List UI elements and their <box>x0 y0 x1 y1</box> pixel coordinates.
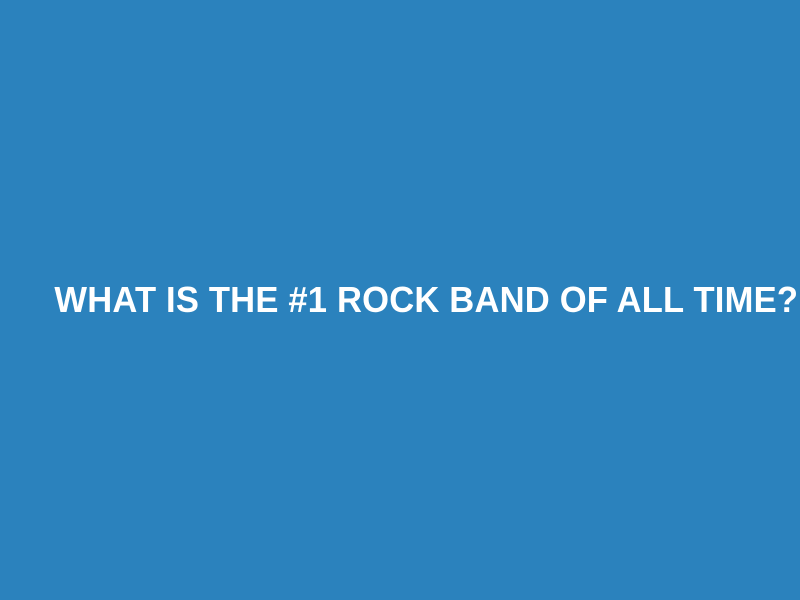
headline-container: WHAT IS THE #1 ROCK BAND OF ALL TIME? <box>0 279 800 321</box>
featured-image-banner: WHAT IS THE #1 ROCK BAND OF ALL TIME? <box>0 0 800 600</box>
banner-headline: WHAT IS THE #1 ROCK BAND OF ALL TIME? <box>54 279 745 321</box>
